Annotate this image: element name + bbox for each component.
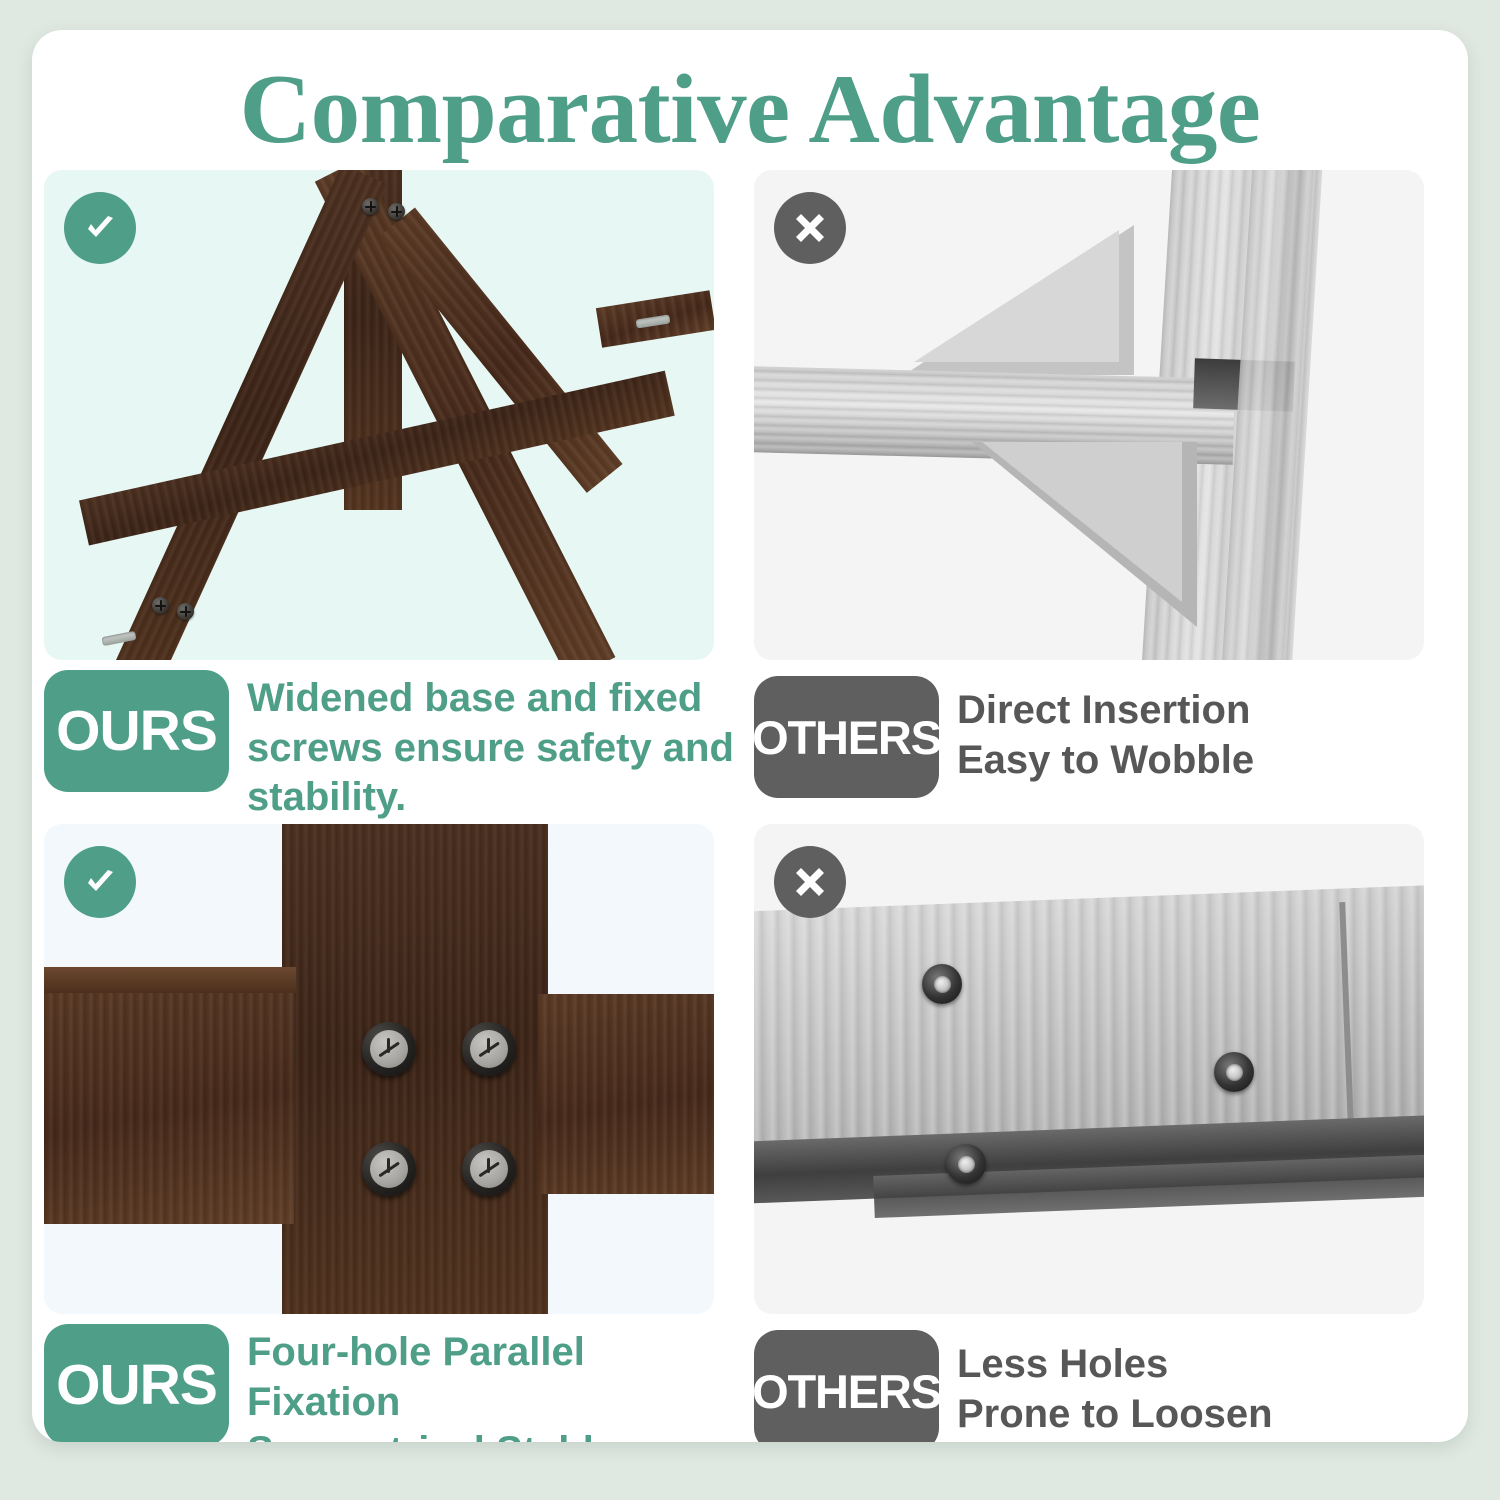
- badge-others: OTHERS: [754, 1330, 939, 1442]
- caption-line: Widened base and fixed: [247, 674, 734, 724]
- comparison-card: Comparative Advantage: [32, 30, 1468, 1442]
- cross-icon: [774, 192, 846, 264]
- caption-text-ours-row1: Widened base and fixed screws ensure saf…: [247, 670, 734, 823]
- caption-line: Less Holes: [957, 1340, 1273, 1390]
- comparison-grid: OURS Widened base and fixed screws ensur…: [32, 170, 1468, 1442]
- bolt-icon: [462, 1142, 516, 1196]
- badge-others: OTHERS: [754, 676, 939, 798]
- check-icon: [64, 192, 136, 264]
- cell-others-row2: OTHERS Less Holes Prone to Loosen: [754, 824, 1454, 1442]
- caption-line: Symmetrical Stable Design: [247, 1427, 744, 1442]
- screw-icon: [388, 203, 405, 220]
- cell-ours-row2: OURS Four-hole Parallel Fixation Symmetr…: [44, 824, 744, 1442]
- cross-icon: [774, 846, 846, 918]
- screw-icon: [152, 597, 169, 614]
- screw-icon: [177, 603, 194, 620]
- photo-ours-bracket: [44, 170, 714, 660]
- caption-line: Direct Insertion: [957, 686, 1254, 736]
- bolt-icon: [462, 1022, 516, 1076]
- bolt-icon: [362, 1022, 416, 1076]
- caption-line: Prone to Loosen: [957, 1390, 1273, 1440]
- bolt-icon: [946, 1144, 986, 1184]
- check-icon: [64, 846, 136, 918]
- bracket-illustration: [44, 170, 714, 660]
- caption-line: screws ensure safety and: [247, 724, 734, 774]
- caption-ours-row1: OURS Widened base and fixed screws ensur…: [44, 670, 744, 823]
- cell-ours-row1: OURS Widened base and fixed screws ensur…: [44, 170, 744, 806]
- caption-others-row1: OTHERS Direct Insertion Easy to Wobble: [754, 670, 1454, 798]
- photo-others-insertion: [754, 170, 1424, 660]
- caption-text-others-row2: Less Holes Prone to Loosen: [957, 1324, 1273, 1439]
- caption-line: stability.: [247, 773, 734, 823]
- screw-icon: [362, 198, 379, 215]
- bolt-icon: [1214, 1052, 1254, 1092]
- badge-ours: OURS: [44, 1324, 229, 1442]
- caption-ours-row2: OURS Four-hole Parallel Fixation Symmetr…: [44, 1324, 744, 1442]
- bolt-icon: [922, 964, 962, 1004]
- caption-others-row2: OTHERS Less Holes Prone to Loosen: [754, 1324, 1454, 1442]
- bolt-icon: [362, 1142, 416, 1196]
- caption-line: Easy to Wobble: [957, 736, 1254, 786]
- badge-ours: OURS: [44, 670, 229, 792]
- infographic-page: Comparative Advantage: [0, 0, 1500, 1500]
- caption-line: Four-hole Parallel Fixation: [247, 1328, 744, 1427]
- page-title: Comparative Advantage: [32, 58, 1468, 163]
- cell-others-row1: OTHERS Direct Insertion Easy to Wobble: [754, 170, 1454, 806]
- photo-ours-four-hole-joint: [44, 824, 714, 1314]
- caption-text-ours-row2: Four-hole Parallel Fixation Symmetrical …: [247, 1324, 744, 1442]
- caption-text-others-row1: Direct Insertion Easy to Wobble: [957, 670, 1254, 785]
- photo-others-less-holes: [754, 824, 1424, 1314]
